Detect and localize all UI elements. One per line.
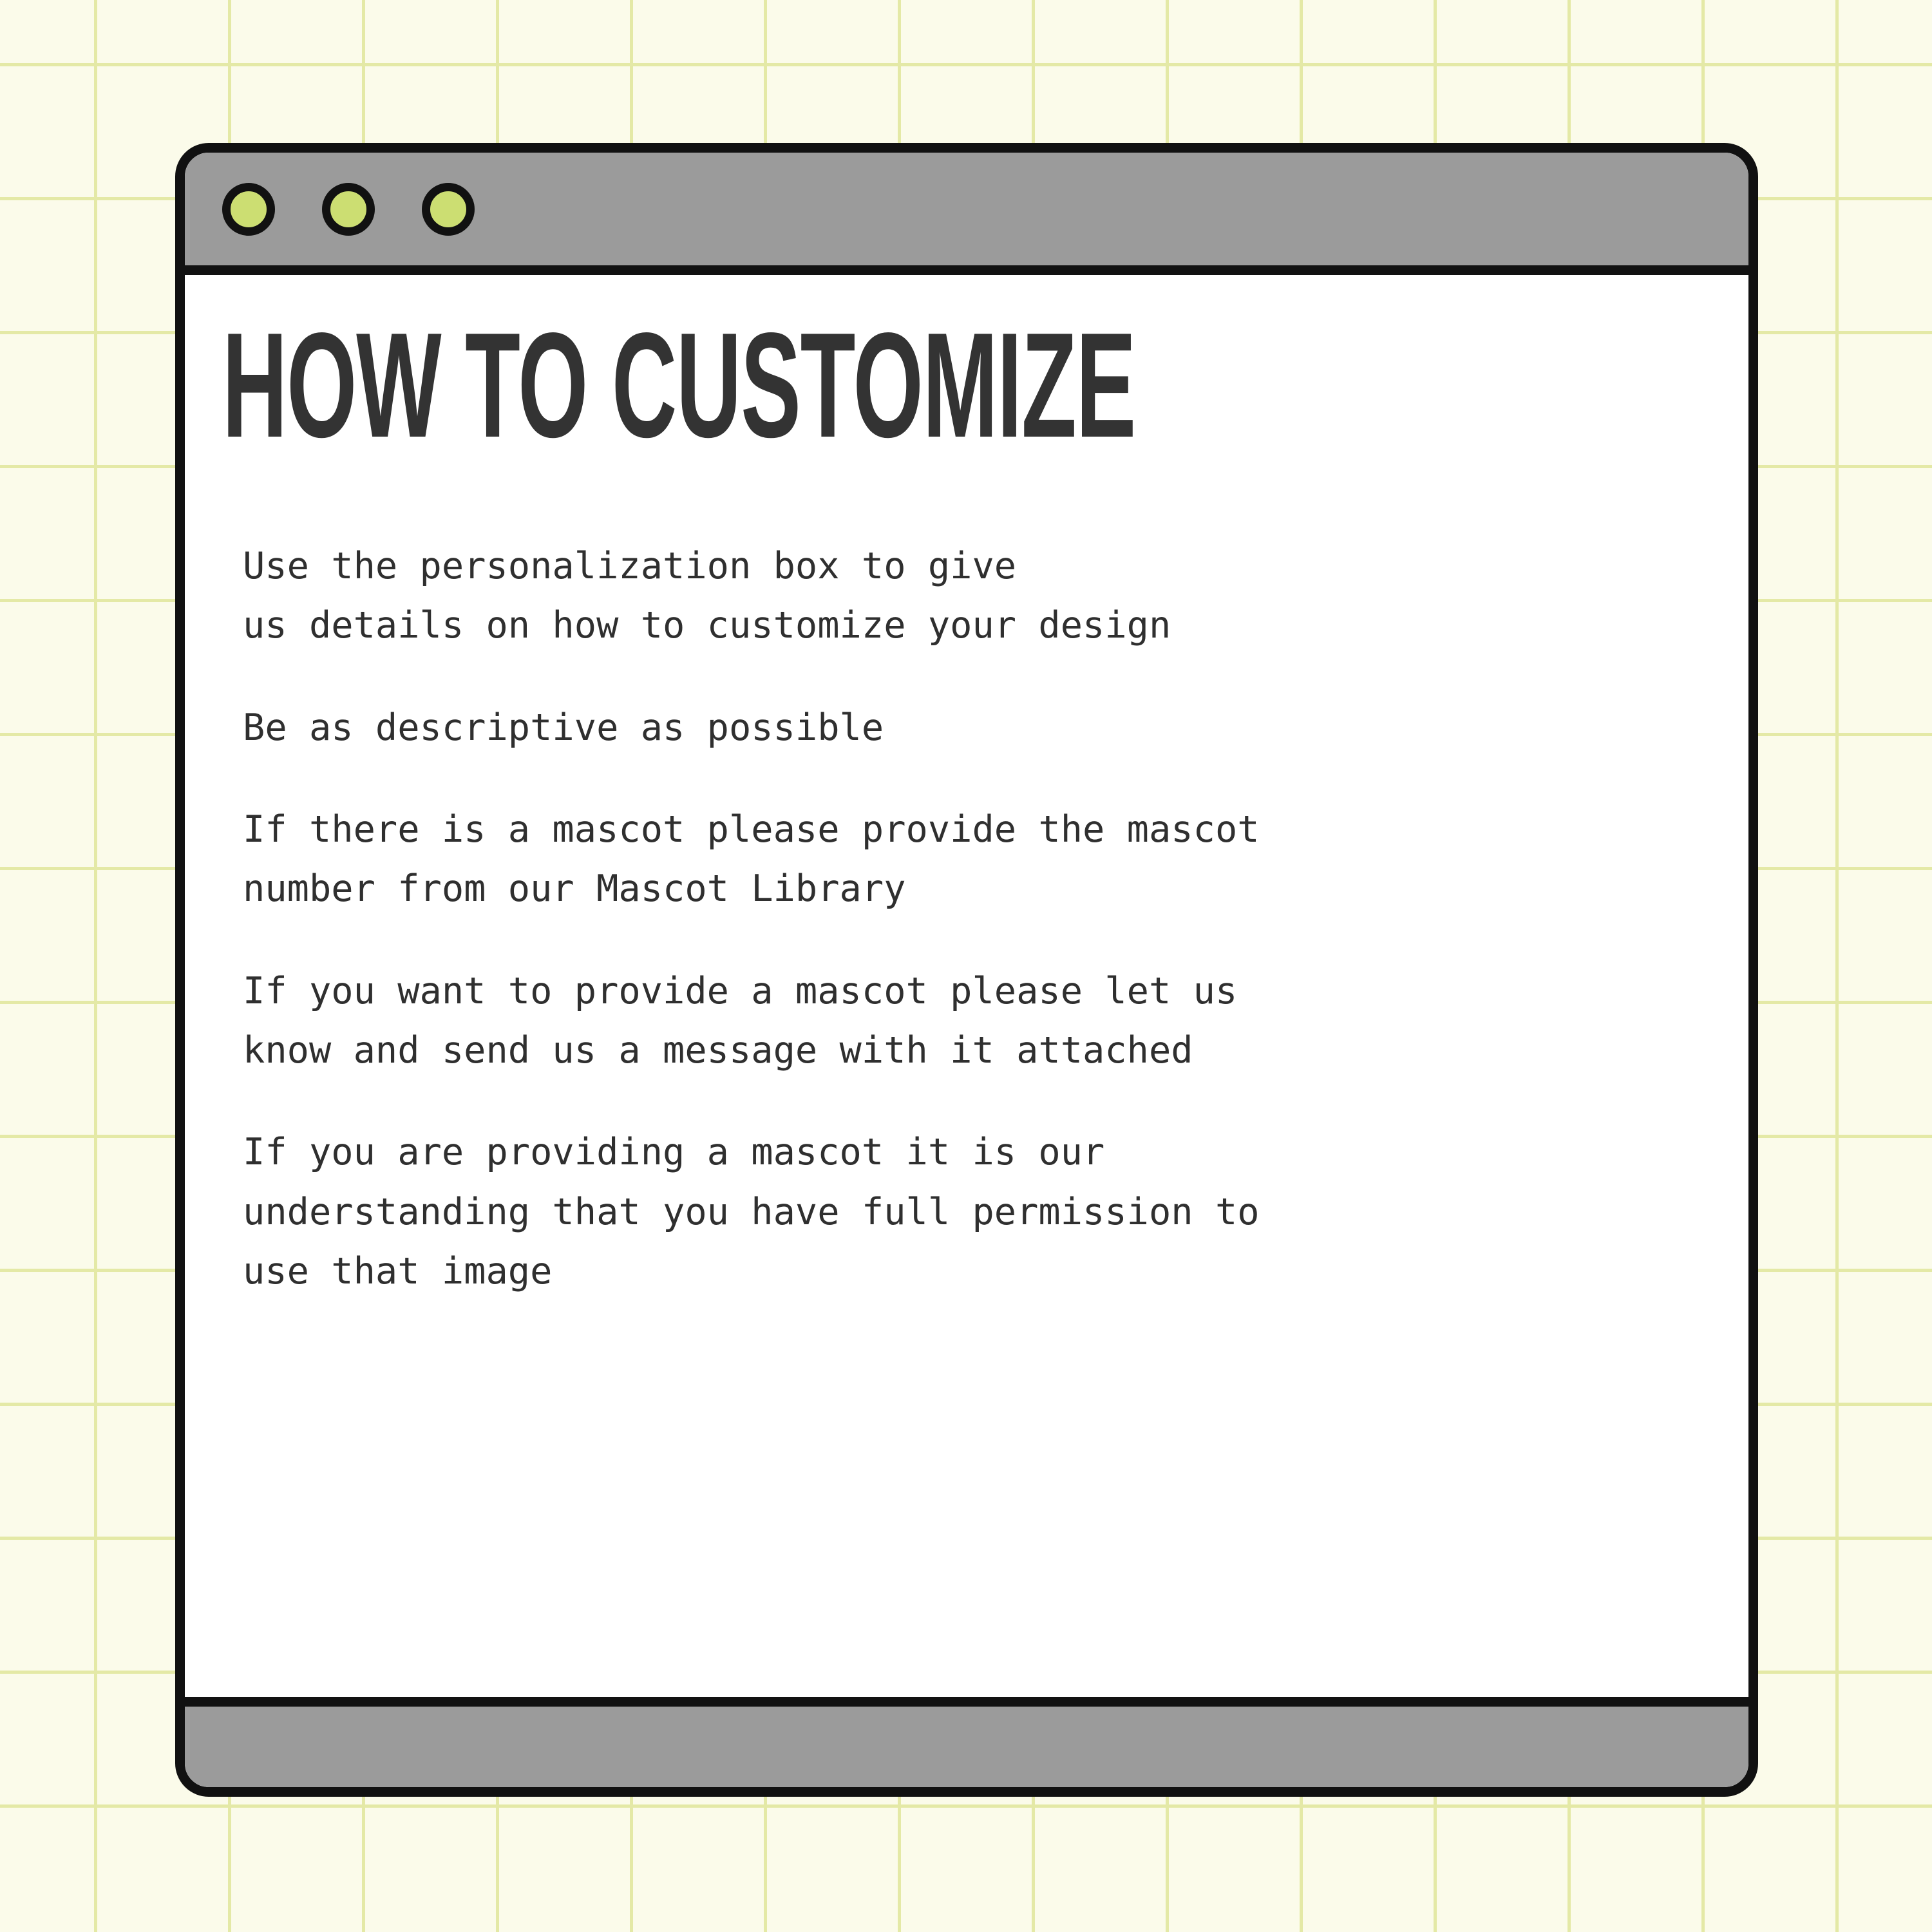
- instruction-paragraph: If there is a mascot please provide the …: [243, 800, 1711, 919]
- instruction-paragraph: Be as descriptive as possible: [243, 698, 1711, 757]
- window-bottombar: [185, 1697, 1748, 1787]
- window-dot-one-icon[interactable]: [222, 183, 275, 236]
- instruction-paragraph: Use the personalization box to give us d…: [243, 536, 1711, 656]
- instruction-paragraph: If you are providing a mascot it is our …: [243, 1122, 1711, 1301]
- instructions-list: Use the personalization box to give us d…: [222, 460, 1711, 1301]
- page-title: HOW TO CUSTOMIZE: [222, 275, 1123, 460]
- window-dot-three-icon[interactable]: [422, 183, 475, 236]
- window-titlebar: [185, 153, 1748, 275]
- window-content: HOW TO CUSTOMIZE Use the personalization…: [185, 275, 1748, 1697]
- instruction-paragraph: If you want to provide a mascot please l…: [243, 961, 1711, 1081]
- app-window: HOW TO CUSTOMIZE Use the personalization…: [175, 143, 1758, 1797]
- window-dot-two-icon[interactable]: [322, 183, 375, 236]
- poster-canvas: HOW TO CUSTOMIZE Use the personalization…: [0, 0, 1932, 1932]
